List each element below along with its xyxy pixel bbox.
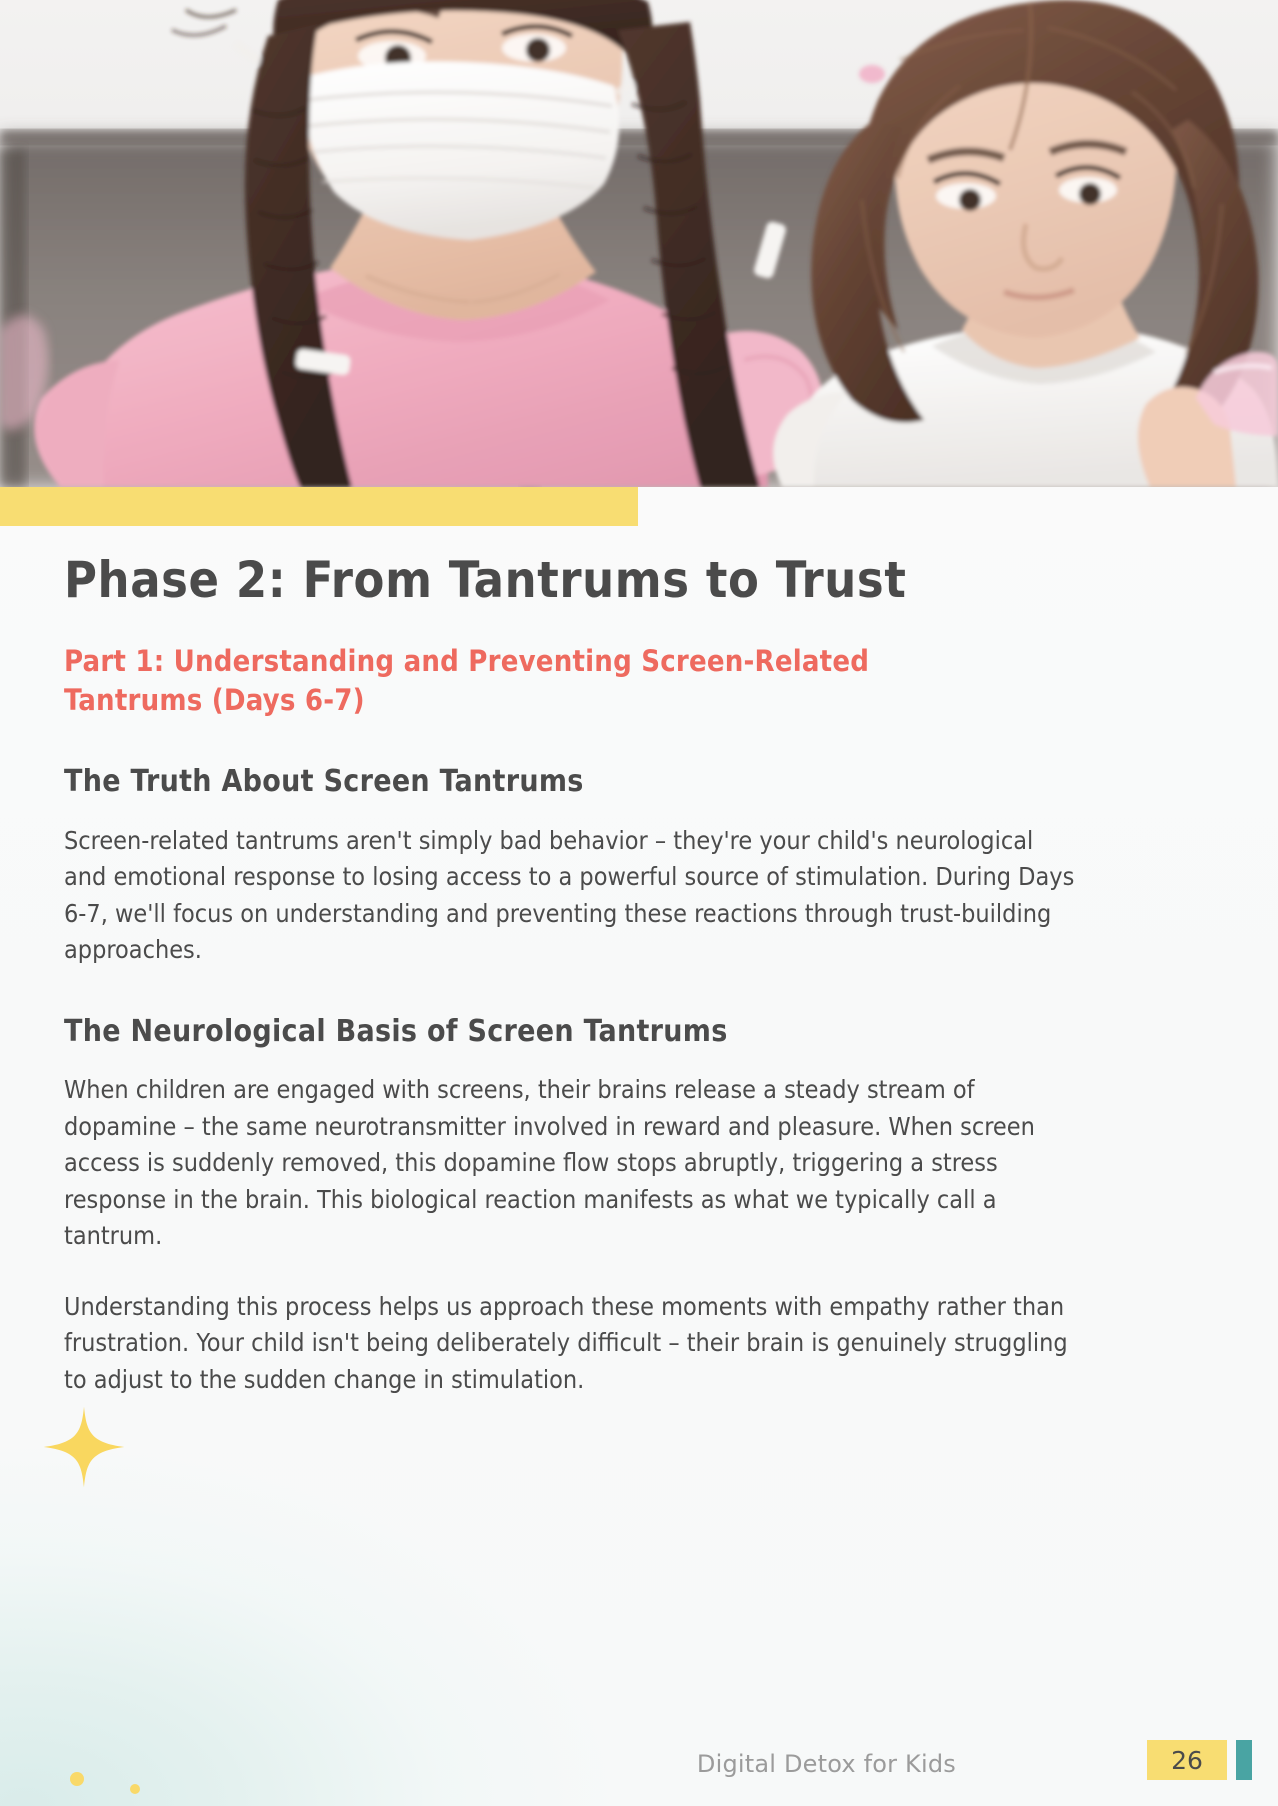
hero-photo	[0, 0, 1278, 487]
section-heading-neurological-basis: The Neurological Basis of Screen Tantrum…	[64, 1013, 1078, 1051]
section-heading-truth-about-screen-tantrums: The Truth About Screen Tantrums	[64, 763, 1078, 801]
paragraph-spacer	[64, 1255, 1078, 1289]
document-page: Phase 2: From Tantrums to Trust Part 1: …	[0, 0, 1278, 1806]
page-number-badge: 26	[1147, 1740, 1227, 1780]
footer-teal-tick	[1236, 1740, 1252, 1780]
section-paragraph: Screen-related tantrums aren't simply ba…	[64, 823, 1078, 969]
section-spacer	[64, 969, 1078, 1013]
page-content: Phase 2: From Tantrums to Trust Part 1: …	[64, 552, 1078, 1398]
section-paragraph: Understanding this process helps us appr…	[64, 1289, 1078, 1399]
sparkle-star-icon	[42, 1405, 126, 1489]
footer-book-title: Digital Detox for Kids	[697, 1750, 956, 1778]
page-title: Phase 2: From Tantrums to Trust	[64, 552, 1078, 608]
page-subtitle: Part 1: Understanding and Preventing Scr…	[64, 642, 944, 719]
yellow-accent-bar	[0, 487, 638, 526]
section-paragraph: When children are engaged with screens, …	[64, 1072, 1078, 1255]
page-footer: Digital Detox for Kids 26	[0, 1726, 1278, 1806]
